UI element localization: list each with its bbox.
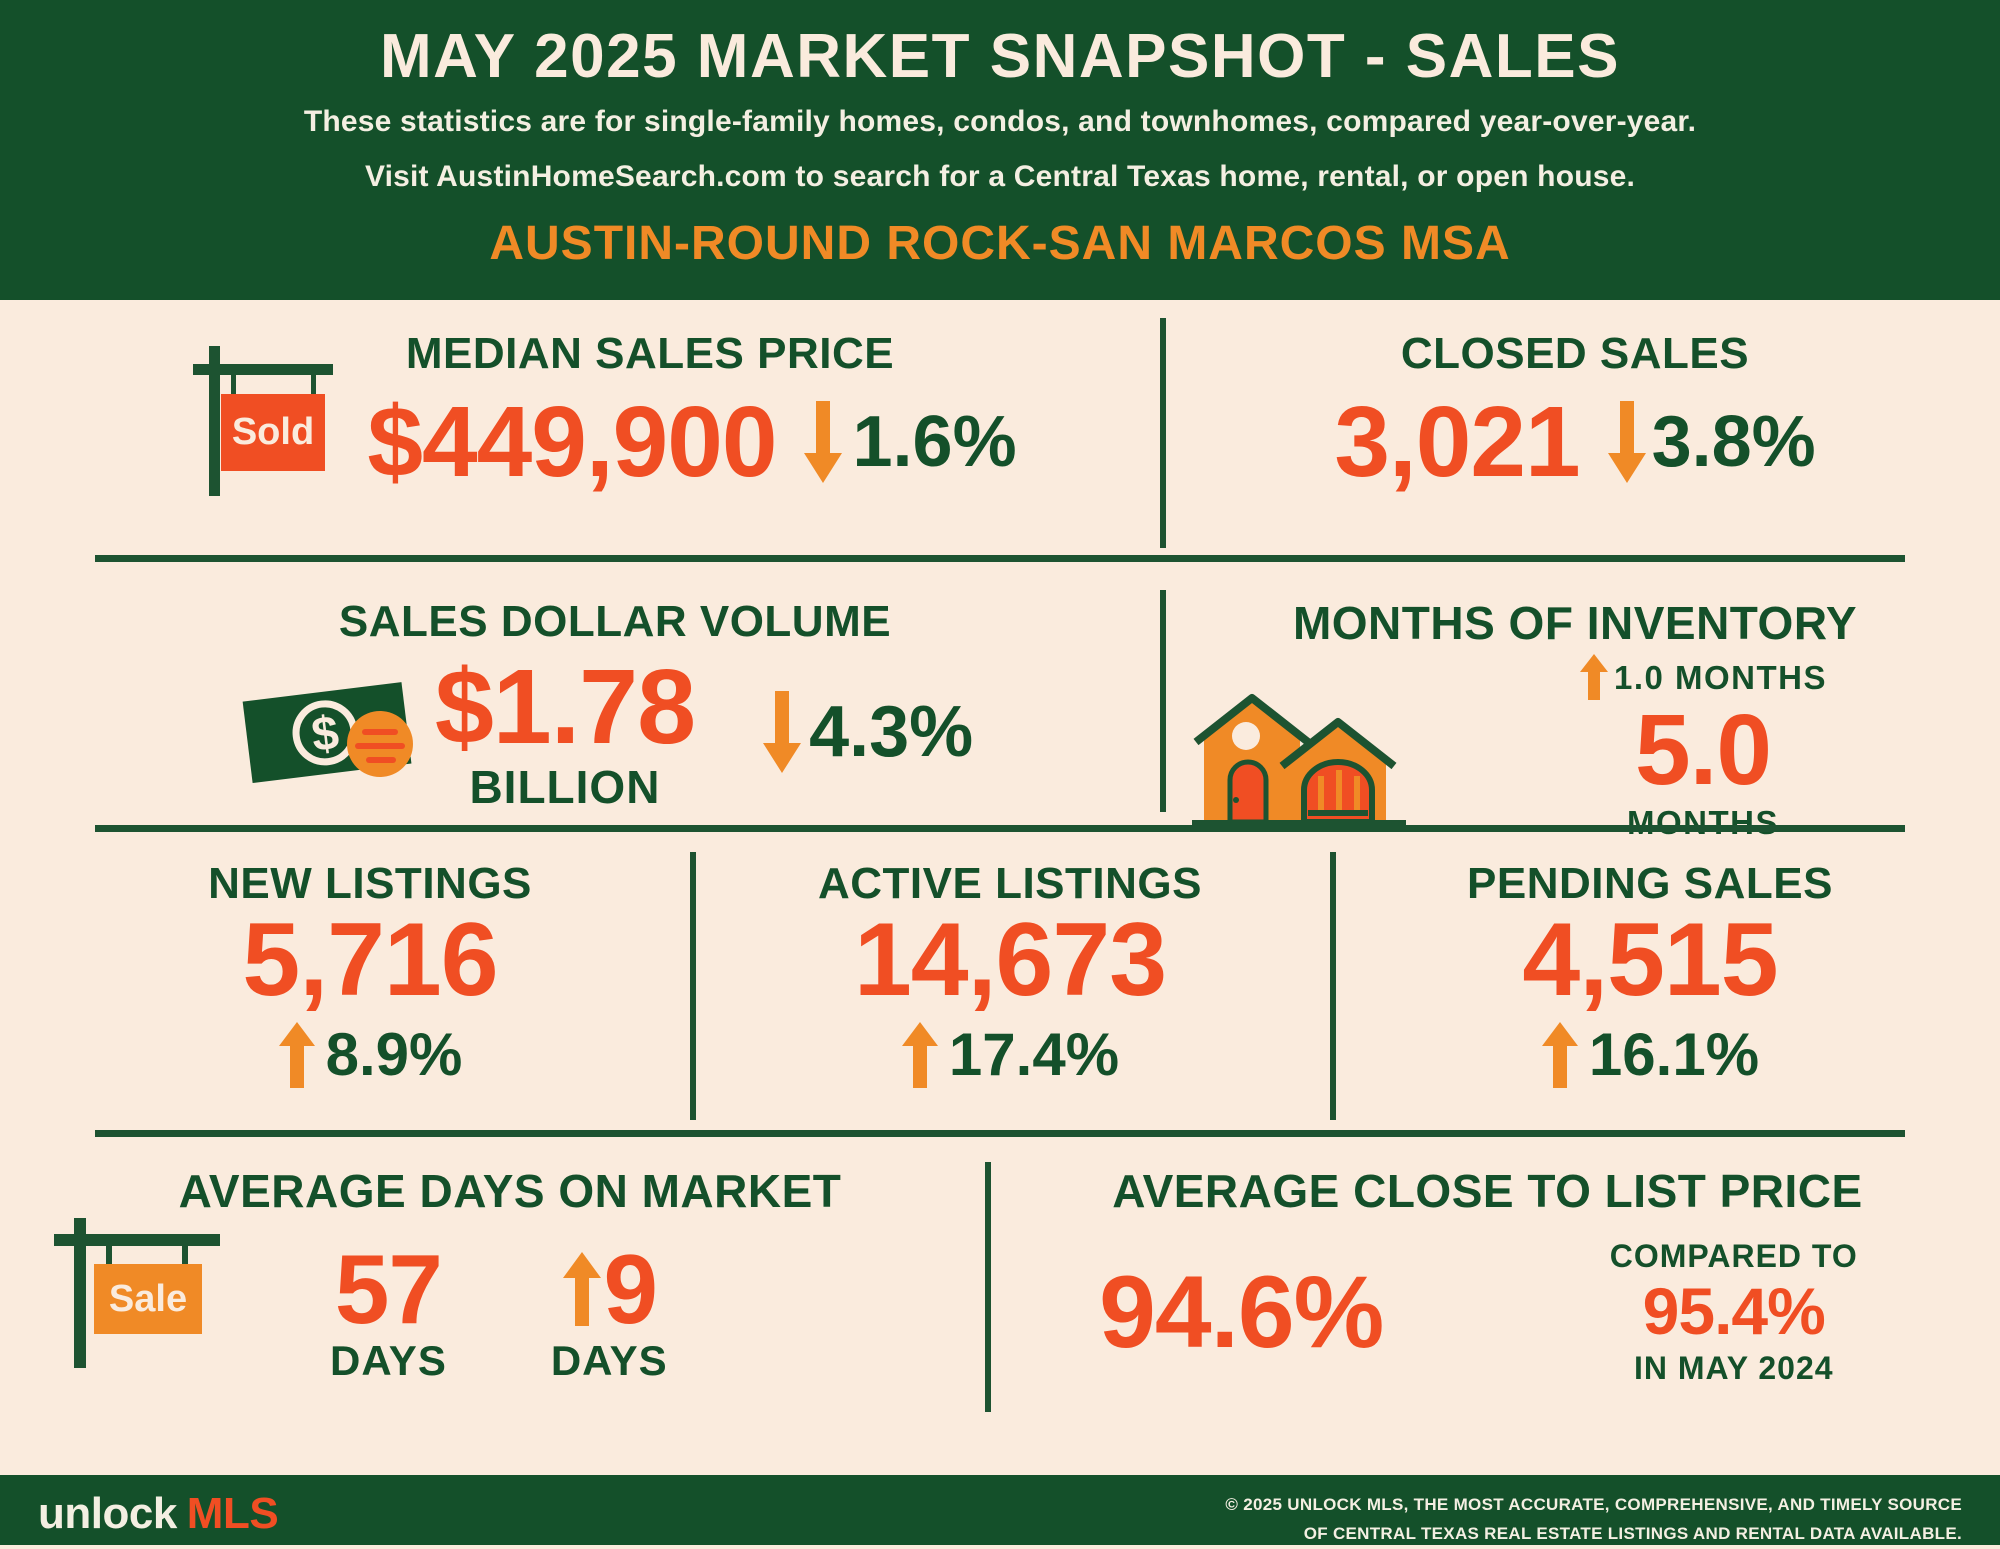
sale-sign-icon: Sale (54, 1218, 254, 1378)
sales-dollar-volume-change: 4.3% (809, 696, 973, 768)
row3-vertical-divider-left (690, 852, 696, 1120)
compare-label: COMPARED TO (1610, 1240, 1858, 1272)
stat-average-days-on-market: AVERAGE DAYS ON MARKET Sale 57 DAYS (40, 1168, 980, 1382)
infographic-page: MAY 2025 MARKET SNAPSHOT - SALES These s… (0, 0, 2000, 1545)
stats-body: MEDIAN SALES PRICE Sold $449,900 (0, 300, 2000, 1475)
sales-dollar-volume-unit: BILLION (469, 764, 660, 810)
stat-active-listings: ACTIVE LISTINGS 14,673 17.4% (700, 862, 1320, 1088)
new-listings-title: NEW LISTINGS (60, 862, 680, 906)
arrow-up-icon (1541, 1022, 1579, 1088)
arrow-up-icon (562, 1252, 602, 1326)
row2-vertical-divider (1160, 590, 1166, 812)
months-of-inventory-title: MONTHS OF INVENTORY (1170, 600, 1980, 646)
sales-dollar-volume-value: $1.78 (435, 654, 695, 760)
copyright-notice: © 2025 UNLOCK MLS, THE MOST ACCURATE, CO… (1225, 1491, 1962, 1549)
median-sales-price-value: $449,900 (367, 392, 776, 492)
pending-sales-change: 16.1% (1589, 1025, 1759, 1085)
active-listings-title: ACTIVE LISTINGS (700, 862, 1320, 906)
footer-bar: unlockMLS © 2025 UNLOCK MLS, THE MOST AC… (0, 1475, 2000, 1545)
stat-median-sales-price: MEDIAN SALES PRICE Sold $449,900 (60, 332, 1150, 502)
copyright-line-2: OF CENTRAL TEXAS REAL ESTATE LISTINGS AN… (1225, 1520, 1962, 1549)
row2-bottom-divider (95, 825, 1905, 832)
new-listings-value: 5,716 (242, 908, 497, 1012)
sales-dollar-volume-title: SALES DOLLAR VOLUME (80, 600, 1150, 644)
row4-vertical-divider (985, 1162, 991, 1412)
pending-sales-title: PENDING SALES (1340, 862, 1960, 906)
logo-primary-text: unlock (38, 1489, 177, 1538)
row1-bottom-divider (95, 555, 1905, 562)
logo-secondary-text: MLS (187, 1489, 278, 1538)
average-days-on-market-value: 57 (335, 1240, 442, 1338)
arrow-up-icon (901, 1022, 939, 1088)
median-sales-price-change: 1.6% (852, 406, 1016, 478)
average-days-on-market-title: AVERAGE DAYS ON MARKET (40, 1168, 980, 1214)
closed-sales-title: CLOSED SALES (1170, 332, 1980, 376)
svg-text:Sold: Sold (232, 411, 314, 453)
row3-vertical-divider-right (1330, 852, 1336, 1120)
average-days-on-market-unit: DAYS (330, 1340, 447, 1382)
active-listings-value: 14,673 (854, 908, 1166, 1012)
money-bill-icon: $ (237, 667, 427, 797)
header-subtitle-line-1: These statistics are for single-family h… (0, 101, 2000, 144)
closed-sales-value: 3,021 (1334, 392, 1579, 492)
stat-pending-sales: PENDING SALES 4,515 16.1% (1340, 862, 1960, 1088)
average-days-on-market-change: 9 (604, 1240, 658, 1338)
row1-vertical-divider (1160, 318, 1166, 548)
stat-sales-dollar-volume: SALES DOLLAR VOLUME $ (60, 600, 1150, 792)
months-of-inventory-change: 1.0 MONTHS (1614, 661, 1827, 694)
stat-months-of-inventory: MONTHS OF INVENTORY (1170, 600, 1980, 850)
stat-new-listings: NEW LISTINGS 5,716 8.9% (60, 862, 680, 1088)
compare-period: IN MAY 2024 (1634, 1352, 1834, 1384)
page-title: MAY 2025 MARKET SNAPSHOT - SALES (0, 0, 2000, 89)
arrow-down-icon (1606, 401, 1648, 483)
arrow-down-icon (761, 691, 803, 773)
header-banner: MAY 2025 MARKET SNAPSHOT - SALES These s… (0, 0, 2000, 300)
header-subtitle-line-2: Visit AustinHomeSearch.com to search for… (0, 156, 2000, 199)
months-of-inventory-value: 5.0 (1635, 700, 1771, 800)
header-region-label: AUSTIN-ROUND ROCK-SAN MARCOS MSA (0, 216, 2000, 271)
row3-bottom-divider (95, 1130, 1905, 1137)
new-listings-change: 8.9% (326, 1025, 463, 1085)
sold-sign-icon: Sold (193, 346, 363, 496)
closed-sales-change: 3.8% (1652, 406, 1816, 478)
compare-value: 95.4% (1643, 1278, 1825, 1344)
stat-average-close-to-list-price: AVERAGE CLOSE TO LIST PRICE 94.6% COMPAR… (995, 1168, 1980, 1384)
average-days-on-market-change-unit: DAYS (551, 1340, 668, 1382)
average-close-to-list-price-value: 94.6% (1099, 1255, 1383, 1369)
arrow-down-icon (802, 401, 844, 483)
arrow-up-icon (1579, 654, 1609, 700)
average-close-to-list-price-title: AVERAGE CLOSE TO LIST PRICE (995, 1168, 1980, 1214)
unlock-mls-logo[interactable]: unlockMLS (38, 1489, 278, 1539)
svg-text:Sale: Sale (109, 1278, 187, 1320)
active-listings-change: 17.4% (949, 1025, 1119, 1085)
pending-sales-value: 4,515 (1522, 908, 1777, 1012)
arrow-up-icon (278, 1022, 316, 1088)
copyright-line-1: © 2025 UNLOCK MLS, THE MOST ACCURATE, CO… (1225, 1491, 1962, 1520)
months-of-inventory-unit: MONTHS (1627, 806, 1779, 839)
stat-closed-sales: CLOSED SALES 3,021 3.8% (1170, 332, 1980, 502)
